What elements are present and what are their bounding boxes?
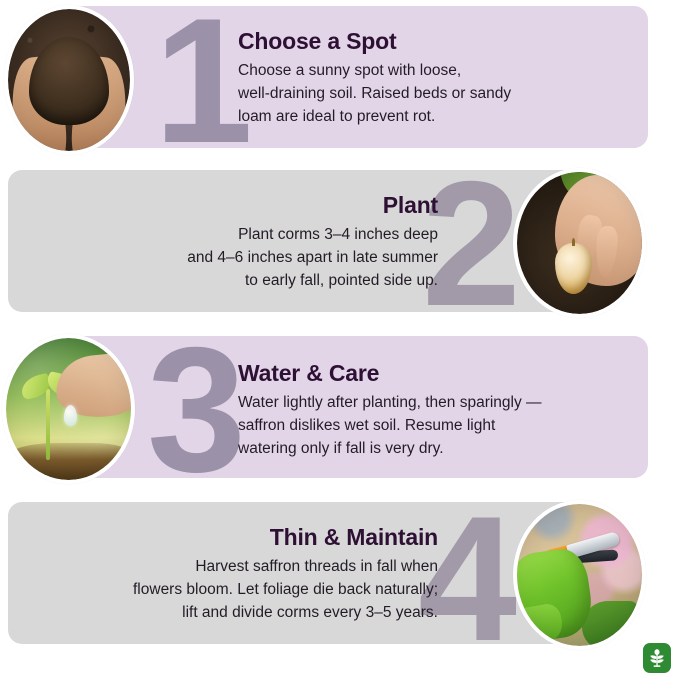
step-body-2: Plant corms 3–4 inches deep and 4–6 inch… [60,224,438,292]
step-card-2: 2 Plant Plant corms 3–4 inches deep and … [8,170,592,312]
step-title-3: Water & Care [238,360,638,386]
step-body-4: Harvest saffron threads in fall when flo… [38,556,438,624]
step-text-1: Choose a Spot Choose a sunny spot with l… [238,28,630,129]
step-title-1: Choose a Spot [238,28,630,54]
step-body-3: Water lightly after planting, then spari… [238,392,638,460]
step-image-4 [513,500,646,650]
step-number-1: 1 [154,0,249,170]
step-title-2: Plant [60,192,438,218]
step-card-4: 4 Thin & Maintain Harvest saffron thread… [8,502,592,644]
step-text-2: Plant Plant corms 3–4 inches deep and 4–… [60,192,438,293]
step-card-3: 3 Water & Care Water lightly after plant… [64,336,648,478]
step-image-1 [4,5,134,155]
infographic-root: 1 Choose a Spot Choose a sunny spot with… [0,0,679,681]
step-number-3: 3 [147,321,242,499]
plant-leaf-icon [647,647,667,669]
brand-logo-badge [643,643,671,673]
step-text-4: Thin & Maintain Harvest saffron threads … [38,524,438,625]
step-text-3: Water & Care Water lightly after plantin… [238,360,638,461]
step-image-2 [513,168,646,318]
step-title-4: Thin & Maintain [38,524,438,550]
step-body-1: Choose a sunny spot with loose, well-dra… [238,60,630,128]
step-card-1: 1 Choose a Spot Choose a sunny spot with… [64,6,648,148]
step-image-3 [2,334,135,484]
